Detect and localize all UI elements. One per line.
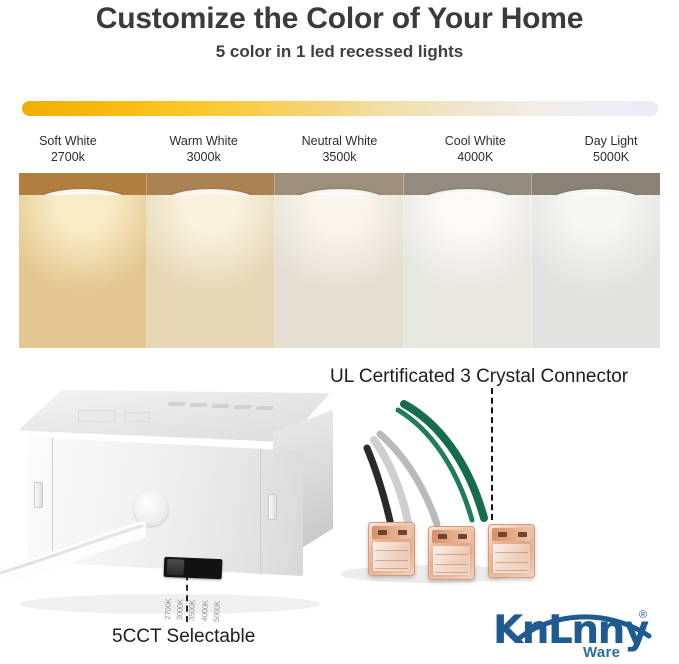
connector-port (498, 532, 507, 537)
connector-port (378, 530, 387, 535)
cct-kelvin: 4000K (407, 150, 543, 166)
vent-slot (167, 402, 185, 406)
wall-surface (19, 225, 147, 348)
connector-clear-body (373, 542, 410, 571)
light-wash (532, 195, 660, 340)
product-infographic: Customize the Color of Your Home 5 color… (0, 0, 679, 664)
connector-slat (435, 564, 468, 565)
connector-slat (435, 554, 468, 555)
cct-label-3: Cool White 4000K (407, 134, 543, 165)
cct-name: Warm White (136, 134, 272, 150)
cct-kelvin: 3000k (136, 150, 272, 166)
connector-top (432, 530, 471, 543)
light-panel-1 (147, 173, 275, 348)
wall-surface (147, 225, 275, 348)
light-wash (275, 195, 403, 340)
light-panel-3 (404, 173, 532, 348)
connector-slat (495, 552, 528, 553)
cct-switch-scale: 2700K 3000K 3500K 4000K 5000K (164, 578, 226, 623)
cct-name: Cool White (407, 134, 543, 150)
cct-name: Soft White (0, 134, 136, 150)
color-temperature-gradient-bar (22, 101, 658, 116)
connector-slat (375, 560, 408, 561)
cct-name: Neutral White (272, 134, 408, 150)
cct-label-4: Day Light 5000K (543, 134, 679, 165)
box-seam (260, 446, 261, 576)
cct-label-1: Warm White 3000k (136, 134, 272, 165)
connector-port (438, 534, 447, 539)
connector-slat (375, 550, 408, 551)
emboss-mark (78, 410, 116, 422)
cable-core (0, 530, 142, 580)
mounting-tab (34, 482, 43, 508)
light-wash (19, 195, 147, 340)
crystal-connector-1 (368, 522, 415, 576)
cct-label-0: Soft White 2700k (0, 134, 136, 165)
light-comparison-photo-strip (19, 173, 660, 348)
mounting-tab (268, 494, 277, 520)
cct-label-2: Neutral White 3500k (272, 134, 408, 165)
connector-slat (495, 570, 528, 571)
switch-scale-label-4: 5000K (213, 580, 226, 622)
page-title: Customize the Color of Your Home (0, 2, 679, 36)
crystal-connector-3 (488, 524, 535, 578)
emboss-mark (124, 412, 150, 422)
light-panel-4 (532, 173, 660, 348)
light-panel-0 (19, 173, 147, 348)
light-panel-2 (275, 173, 403, 348)
connector-top (372, 526, 411, 539)
vent-slot (211, 404, 229, 408)
cct-kelvin: 2700k (0, 150, 136, 166)
connector-slat (435, 572, 468, 573)
page-subtitle: 5 color in 1 led recessed lights (0, 42, 679, 62)
connector-port (458, 534, 467, 539)
vent-slot (189, 403, 207, 407)
logo-subtext: Ware (583, 644, 620, 661)
led-driver-junction-box: 2700K 3000K 3500K 4000K 5000K (18, 390, 358, 600)
cct-name: Day Light (543, 134, 679, 150)
cct-kelvin: 3500k (272, 150, 408, 166)
brand-logo: KnLnny ® Ware (487, 606, 667, 662)
connector-slat (375, 568, 408, 569)
wall-surface (275, 225, 403, 348)
light-wash (147, 195, 275, 340)
registered-trademark-icon: ® (639, 609, 647, 621)
white-power-cable (0, 508, 146, 586)
vent-slot (255, 406, 273, 410)
cct-selector-switch[interactable] (164, 557, 223, 580)
wall-surface (532, 225, 660, 348)
connector-clear-body (493, 544, 530, 573)
connector-clear-body (433, 546, 470, 575)
light-wash (404, 195, 532, 340)
crystal-connector-2 (428, 526, 475, 580)
cct-kelvin: 5000K (543, 150, 679, 166)
color-temperature-label-row: Soft White 2700k Warm White 3000k Neutra… (0, 134, 679, 165)
connector-slat (495, 562, 528, 563)
connector-port (518, 532, 527, 537)
vent-slot (233, 405, 251, 409)
wall-surface (404, 225, 532, 348)
connector-top (492, 528, 531, 541)
logo-wordmark: KnLnny (493, 608, 648, 653)
switch-knob[interactable] (167, 559, 185, 576)
connector-port (398, 530, 407, 535)
